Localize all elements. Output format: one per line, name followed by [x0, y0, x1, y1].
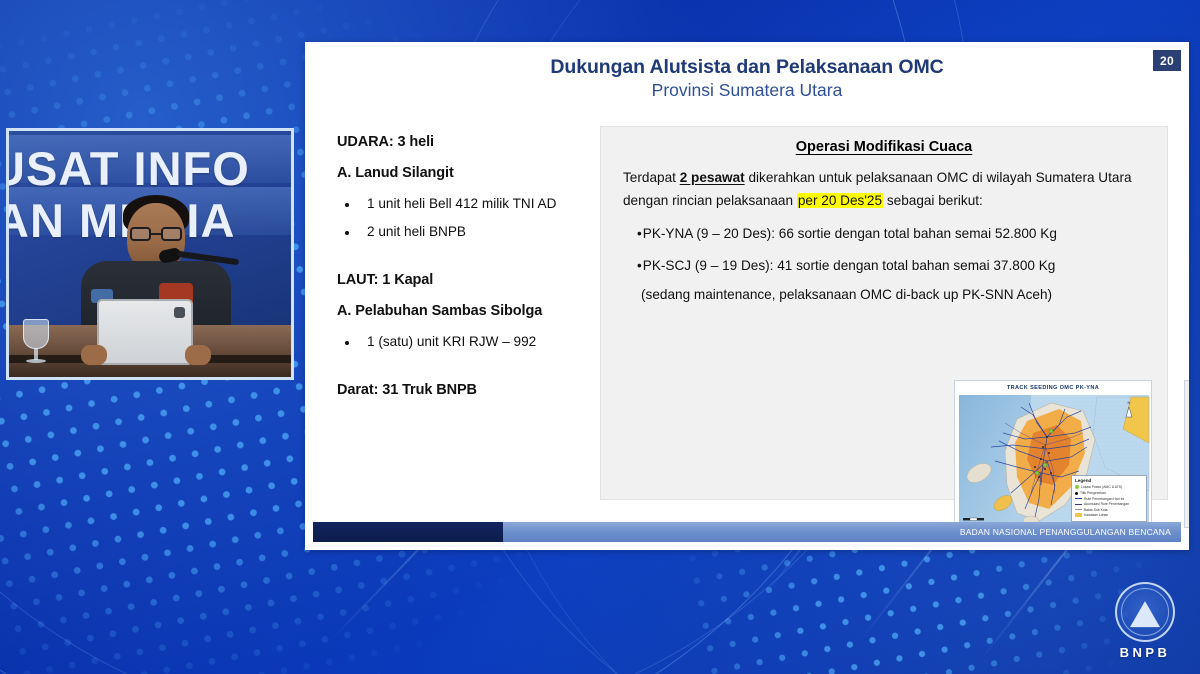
legend-row: Lokasi Posko (AMC & ATS): [1075, 485, 1143, 489]
omc-maintenance-note: (sedang maintenance, pelaksanaan OMC di-…: [641, 287, 1147, 302]
glasses-lens-left: [130, 227, 151, 241]
scale-bar: [963, 518, 984, 520]
bullet-dot: •: [637, 226, 642, 241]
bnpb-logo-ring: [1115, 582, 1175, 642]
map-track-seeding-pk-yna[interactable]: N TRACK SEEDING OMC PK-YNA Legend Lokasi…: [954, 380, 1152, 528]
backdrop-text-line-1: USAT INFO: [6, 141, 250, 196]
udara-bullet-list: 1 unit heli Bell 412 milik TNI AD 2 unit…: [337, 196, 605, 239]
spacer: [337, 362, 605, 382]
slide-subtitle: Provinsi Sumatera Utara: [305, 80, 1189, 101]
omc-para-part3: sebagai berikut:: [883, 193, 983, 208]
speaker-hand-left: [81, 345, 107, 365]
legend-swatch: [1075, 485, 1079, 489]
legend-row: Rute Penerbangan Hari Ini: [1075, 497, 1143, 501]
spacer: [337, 252, 605, 272]
omc-intro-paragraph: Terdapat 2 pesawat dikerahkan untuk pela…: [623, 166, 1147, 213]
press-conference-video-panel[interactable]: USAT INFO AN MEDIA: [6, 128, 294, 380]
legend-label: Titik Pengecekan: [1080, 491, 1106, 495]
legend-row: Titik Pengecekan: [1075, 491, 1143, 495]
list-item: 1 (satu) unit KRI RJW – 992: [337, 334, 605, 349]
footer-dark-segment: [313, 522, 503, 542]
legend-label: Akumulasi Rute Penerbangan: [1084, 502, 1129, 506]
darat-heading: Darat: 31 Truk BNPB: [337, 382, 605, 398]
omc-bullet-text: PK-SCJ (9 – 19 Des): 41 sortie dengan to…: [643, 258, 1056, 273]
speaker-glasses: [130, 227, 182, 241]
bnpb-logo: BNPB: [1108, 582, 1182, 658]
legend-swatch: [1075, 509, 1082, 510]
legend-label: Lokasi Posko (AMC & ATS): [1081, 485, 1122, 489]
omc-bullet-text: PK-YNA (9 – 20 Des): 66 sortie dengan to…: [643, 226, 1057, 241]
tablet-device: [97, 299, 193, 365]
bullet-dot: •: [637, 258, 642, 273]
legend-swatch: [1075, 498, 1082, 499]
map-left-legend: Legend Lokasi Posko (AMC & ATS) Titik Pe…: [1071, 475, 1147, 522]
speaker-hand-right: [185, 345, 211, 365]
legend-label: Rute Penerbangan Hari Ini: [1084, 497, 1124, 501]
omc-para-bold: 2 pesawat: [680, 170, 745, 185]
legend-label: Batas Sub Kota: [1084, 508, 1108, 512]
legend-swatch: [1075, 492, 1078, 495]
omc-panel-title: Operasi Modifikasi Cuaca: [601, 139, 1167, 155]
backdrop-text-line-2: AN MEDIA: [6, 193, 235, 248]
legend-label: Kawasan Lahan: [1084, 513, 1108, 517]
map-regional-flight-tracks[interactable]: Medan Pematang Kuala Lumpur M A L A Peka…: [1184, 380, 1189, 528]
presentation-slide: 20 Dukungan Alutsista dan Pelaksanaan OM…: [305, 42, 1189, 550]
laut-bullet-list: 1 (satu) unit KRI RJW – 992: [337, 334, 605, 349]
slide-page-number-badge: 20: [1153, 50, 1181, 71]
footer-light-segment: BADAN NASIONAL PENANGGULANGAN BENCANA: [503, 522, 1181, 542]
water-glass: [23, 319, 49, 365]
legend-swatch: [1075, 513, 1082, 517]
list-item: 2 unit heli BNPB: [337, 224, 605, 239]
map-left-title: TRACK SEEDING OMC PK-YNA: [955, 385, 1151, 391]
slide-footer-bar: BADAN NASIONAL PENANGGULANGAN BENCANA: [313, 522, 1181, 542]
bnpb-logo-label: BNPB: [1108, 645, 1182, 660]
glasses-lens-right: [161, 227, 182, 241]
pelabuhan-heading: A. Pelabuhan Sambas Sibolga: [337, 303, 605, 319]
lanud-silangit-heading: A. Lanud Silangit: [337, 165, 605, 181]
omc-aircraft-line-1: •PK-YNA (9 – 20 Des): 66 sortie dengan t…: [637, 222, 1147, 246]
glasses-bridge: [151, 233, 161, 235]
udara-heading: UDARA: 3 heli: [337, 134, 605, 150]
glass-foot: [26, 359, 46, 363]
omc-panel: Operasi Modifikasi Cuaca Terdapat 2 pesa…: [600, 126, 1168, 500]
glass-bowl: [23, 319, 49, 349]
list-item: 1 unit heli Bell 412 milik TNI AD: [337, 196, 605, 211]
omc-para-part1: Terdapat: [623, 170, 680, 185]
svg-text:N: N: [1128, 400, 1131, 405]
slide-title: Dukungan Alutsista dan Pelaksanaan OMC: [305, 42, 1189, 79]
omc-para-highlight: per 20 Des'25: [797, 193, 883, 208]
legend-row: Batas Sub Kota: [1075, 508, 1143, 512]
laut-heading: LAUT: 1 Kapal: [337, 272, 605, 288]
legend-title: Legend: [1075, 478, 1143, 483]
footer-organization-name: BADAN NASIONAL PENANGGULANGAN BENCANA: [960, 527, 1171, 537]
omc-aircraft-line-2: •PK-SCJ (9 – 19 Des): 41 sortie dengan t…: [637, 254, 1147, 278]
legend-swatch: [1075, 504, 1082, 505]
map-right-graphic: Medan Pematang Kuala Lumpur M A L A Peka…: [1185, 381, 1189, 528]
broadcast-stage: USAT INFO AN MEDIA 20 Dukungan Alutsista: [0, 0, 1200, 674]
left-content-column: UDARA: 3 heli A. Lanud Silangit 1 unit h…: [337, 134, 605, 398]
legend-row: Kawasan Lahan: [1075, 513, 1143, 517]
bnpb-logo-triangle: [1130, 601, 1160, 627]
tablet-camera: [174, 307, 185, 318]
legend-row: Akumulasi Rute Penerbangan: [1075, 502, 1143, 506]
